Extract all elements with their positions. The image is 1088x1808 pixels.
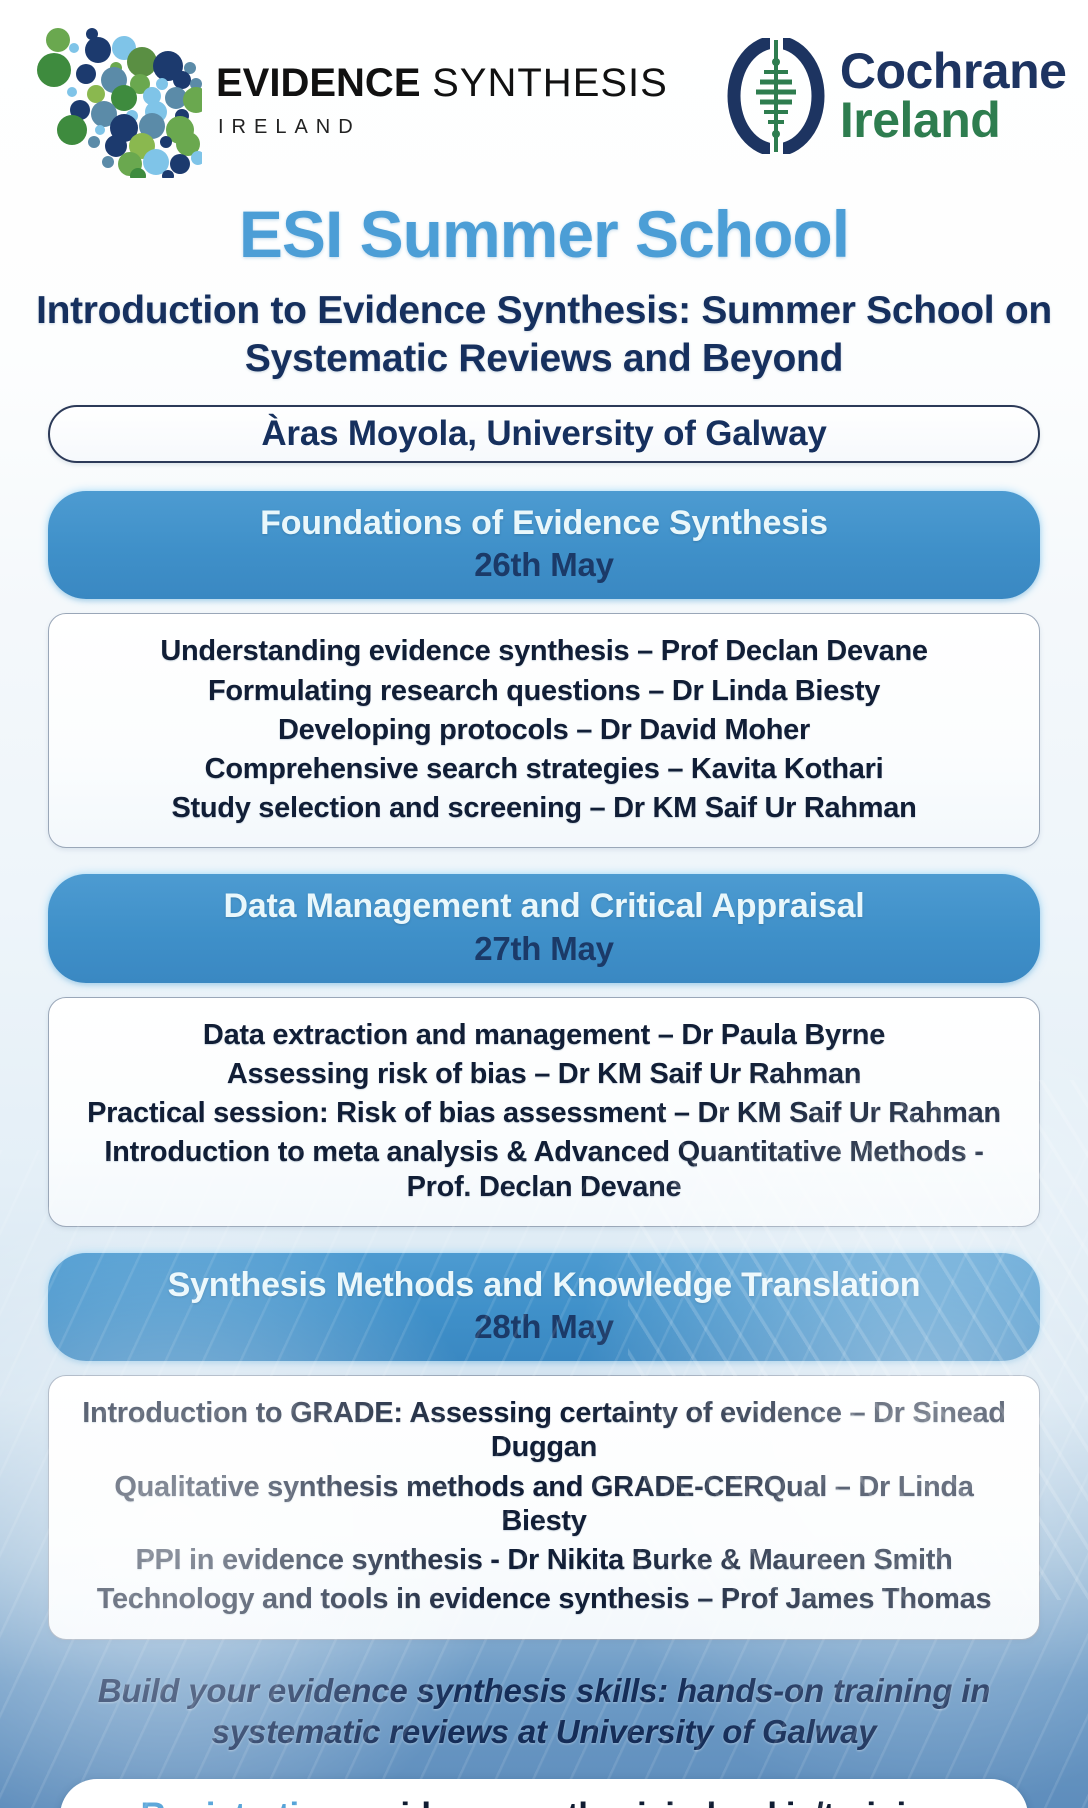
session-title: Data Management and Critical Appraisal <box>48 886 1040 926</box>
session-block: Foundations of Evidence Synthesis 26th M… <box>48 491 1040 848</box>
venue-pill: Àras Moyola, University of Galway <box>48 405 1040 463</box>
cochrane-wordmark: Cochrane Ireland <box>840 47 1067 145</box>
esi-word-synthesis: SYNTHESIS <box>432 61 668 105</box>
topic-item: Understanding evidence synthesis – Prof … <box>73 634 1015 668</box>
page-title: ESI Summer School <box>0 201 1088 267</box>
registration-label: Registration: <box>141 1796 353 1808</box>
topic-item: Study selection and screening – Dr KM Sa… <box>73 791 1015 825</box>
session-title: Synthesis Methods and Knowledge Translat… <box>48 1265 1040 1305</box>
session-header: Foundations of Evidence Synthesis 26th M… <box>48 491 1040 599</box>
session-header: Synthesis Methods and Knowledge Translat… <box>48 1253 1040 1361</box>
topic-item: Comprehensive search strategies – Kavita… <box>73 752 1015 786</box>
topic-item: Practical session: Risk of bias assessme… <box>73 1096 1015 1130</box>
poster-root: EVIDENCE SYNTHESIS IRELAND Cochrane Ir <box>0 0 1088 1808</box>
topic-item: Technology and tools in evidence synthes… <box>73 1582 1015 1616</box>
session-date: 26th May <box>48 545 1040 585</box>
esi-dots-logo-icon <box>30 18 202 178</box>
session-topics: Understanding evidence synthesis – Prof … <box>48 613 1040 848</box>
cochrane-ireland-logo: Cochrane Ireland <box>724 38 1067 154</box>
esi-wordmark-line1: EVIDENCE SYNTHESIS <box>216 62 668 104</box>
topic-item: Qualitative synthesis methods and GRADE-… <box>73 1470 1015 1538</box>
topic-item: Assessing risk of bias – Dr KM Saif Ur R… <box>73 1057 1015 1091</box>
esi-wordmark: EVIDENCE SYNTHESIS IRELAND <box>216 62 668 139</box>
topic-item: Introduction to meta analysis & Advanced… <box>73 1135 1015 1203</box>
page-subtitle: Introduction to Evidence Synthesis: Summ… <box>36 287 1052 383</box>
session-topics: Introduction to GRADE: Assessing certain… <box>48 1375 1040 1639</box>
session-block: Data Management and Critical Appraisal 2… <box>48 874 1040 1226</box>
cochrane-word-ireland: Ireland <box>840 96 1067 145</box>
topic-item: Data extraction and management – Dr Paul… <box>73 1018 1015 1052</box>
session-date: 28th May <box>48 1307 1040 1347</box>
topic-item: Developing protocols – Dr David Moher <box>73 713 1015 747</box>
registration-pill[interactable]: Registration: evidencesynthesisireland.i… <box>60 1779 1028 1808</box>
session-date: 27th May <box>48 929 1040 969</box>
topic-item: Formulating research questions – Dr Lind… <box>73 674 1015 708</box>
tagline: Build your evidence synthesis skills: ha… <box>60 1670 1028 1754</box>
topic-item: PPI in evidence synthesis - Dr Nikita Bu… <box>73 1543 1015 1577</box>
session-topics: Data extraction and management – Dr Paul… <box>48 997 1040 1227</box>
esi-wordmark-country: IRELAND <box>218 116 361 139</box>
session-header: Data Management and Critical Appraisal 2… <box>48 874 1040 982</box>
topic-item: Introduction to GRADE: Assessing certain… <box>73 1396 1015 1464</box>
evidence-synthesis-ireland-logo: EVIDENCE SYNTHESIS IRELAND <box>30 18 668 178</box>
session-block: Synthesis Methods and Knowledge Translat… <box>48 1253 1040 1640</box>
registration-url[interactable]: evidencesynthesisireland.ie/training <box>362 1796 947 1808</box>
sessions-list: Foundations of Evidence Synthesis 26th M… <box>0 491 1088 1640</box>
cochrane-logo-icon <box>724 38 828 154</box>
cochrane-word-cochrane: Cochrane <box>840 47 1067 96</box>
venue-text: Àras Moyola, University of Galway <box>261 414 826 454</box>
session-title: Foundations of Evidence Synthesis <box>48 503 1040 543</box>
logo-bar: EVIDENCE SYNTHESIS IRELAND Cochrane Ir <box>0 0 1088 195</box>
esi-word-evidence: EVIDENCE <box>216 61 421 105</box>
